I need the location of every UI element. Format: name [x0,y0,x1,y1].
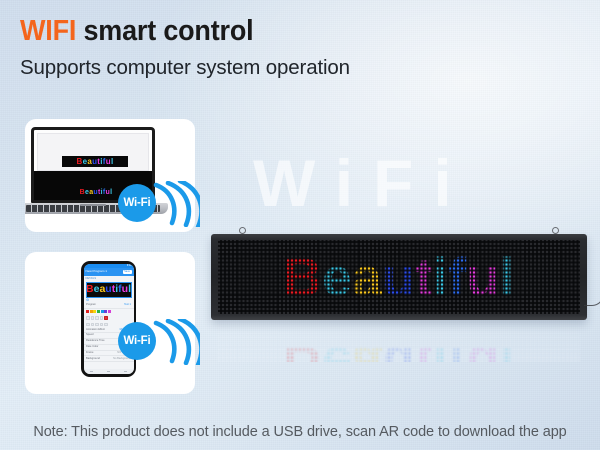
color-swatch[interactable] [93,310,96,313]
wifi-watermark: WiFi [253,150,472,216]
color-swatch[interactable] [90,310,93,313]
row-label: Frame [86,352,94,355]
tool-icon[interactable] [91,323,95,327]
led-letter: f [448,339,466,363]
tool-icon[interactable] [100,323,104,327]
tool-icon[interactable] [91,316,95,320]
app-title-bar: New Program 1 Save [84,268,134,276]
phone-led-preview: Beautiful [86,282,132,298]
led-letter: u [467,339,500,363]
row-label: Animation Effect [86,329,105,332]
page-subtitle: Supports computer system operation [20,56,350,80]
status-time: 9:41 [127,265,132,267]
tool-icon[interactable] [95,316,99,320]
led-letter: a [352,339,382,363]
led-letter: l [499,251,514,304]
color-swatch[interactable] [86,310,89,313]
led-letter: t [415,339,433,363]
color-swatch[interactable] [97,310,100,313]
color-swatch[interactable] [108,310,111,313]
led-letter: u [382,251,415,304]
wifi-badge-label: Wi-Fi [118,184,156,222]
led-letter: l [499,339,514,363]
laptop-led-preview-top: Beautiful [62,156,128,167]
row-label: Date Color [86,346,98,349]
tool-icon[interactable] [104,323,108,327]
row-label: Speed [86,334,94,337]
led-panel: Beautiful [218,240,580,314]
tool-icon[interactable] [95,323,99,327]
footer-note: Note: This product does not include a US… [0,424,600,440]
nav-home-icon[interactable] [107,371,110,372]
wifi-badge-label: Wi-Fi [118,322,156,360]
row-label: Program [86,304,96,307]
row-value[interactable]: Text 1 [124,304,131,307]
color-swatch[interactable] [101,310,104,313]
led-letter: e [322,339,352,363]
tool-icon-active[interactable] [104,316,108,320]
promo-banner: WIFI smart control Supports computer sys… [0,0,600,450]
save-button[interactable]: Save [123,270,132,274]
led-letter: i [433,251,448,304]
row-label: Background [86,358,100,361]
led-letter: i [433,339,448,363]
led-letter: e [322,251,352,304]
led-letter: t [415,251,433,304]
headline-accent: WIFI [20,15,76,47]
led-letter: l [128,284,131,295]
laptop-led-preview-bottom: Beautiful [68,188,124,197]
page-title: WIFI smart control [20,17,327,46]
list-item[interactable]: Background No Background [84,356,134,362]
tool-icon[interactable] [86,323,90,327]
led-letter: a [352,251,382,304]
led-display-text: Beautiful [218,240,580,314]
nav-back-icon[interactable] [90,371,93,372]
headline-rest: smart control [76,15,253,47]
led-letter: B [283,339,322,363]
led-letter: l [111,158,114,166]
tool-icon[interactable] [86,316,90,320]
led-sign-reflection: Beautiful [211,322,587,362]
smartphone-illustration: 9:41 New Program 1 Save DETAILS Beautifu… [81,261,136,377]
color-swatch[interactable] [104,310,107,313]
led-letter: B [86,284,94,295]
app-title: New Program 1 [86,270,108,273]
led-letter: u [382,339,415,363]
led-letter: u [467,251,500,304]
mounting-hook-right-icon [552,227,559,234]
mounting-hook-left-icon [239,227,246,234]
tool-icon[interactable] [100,316,104,320]
row-label: Residence Time [86,340,105,343]
led-scrolling-sign: Beautiful [211,234,587,320]
phone-nav-bar[interactable] [84,369,134,374]
header: WIFI smart control Supports computer sys… [20,17,350,80]
led-letter: B [283,251,322,304]
led-letter: f [448,251,466,304]
nav-recents-icon[interactable] [124,371,127,372]
led-letter: l [110,189,112,196]
power-cable [584,290,600,306]
phone-screen: 9:41 New Program 1 Save DETAILS Beautifu… [84,264,134,374]
